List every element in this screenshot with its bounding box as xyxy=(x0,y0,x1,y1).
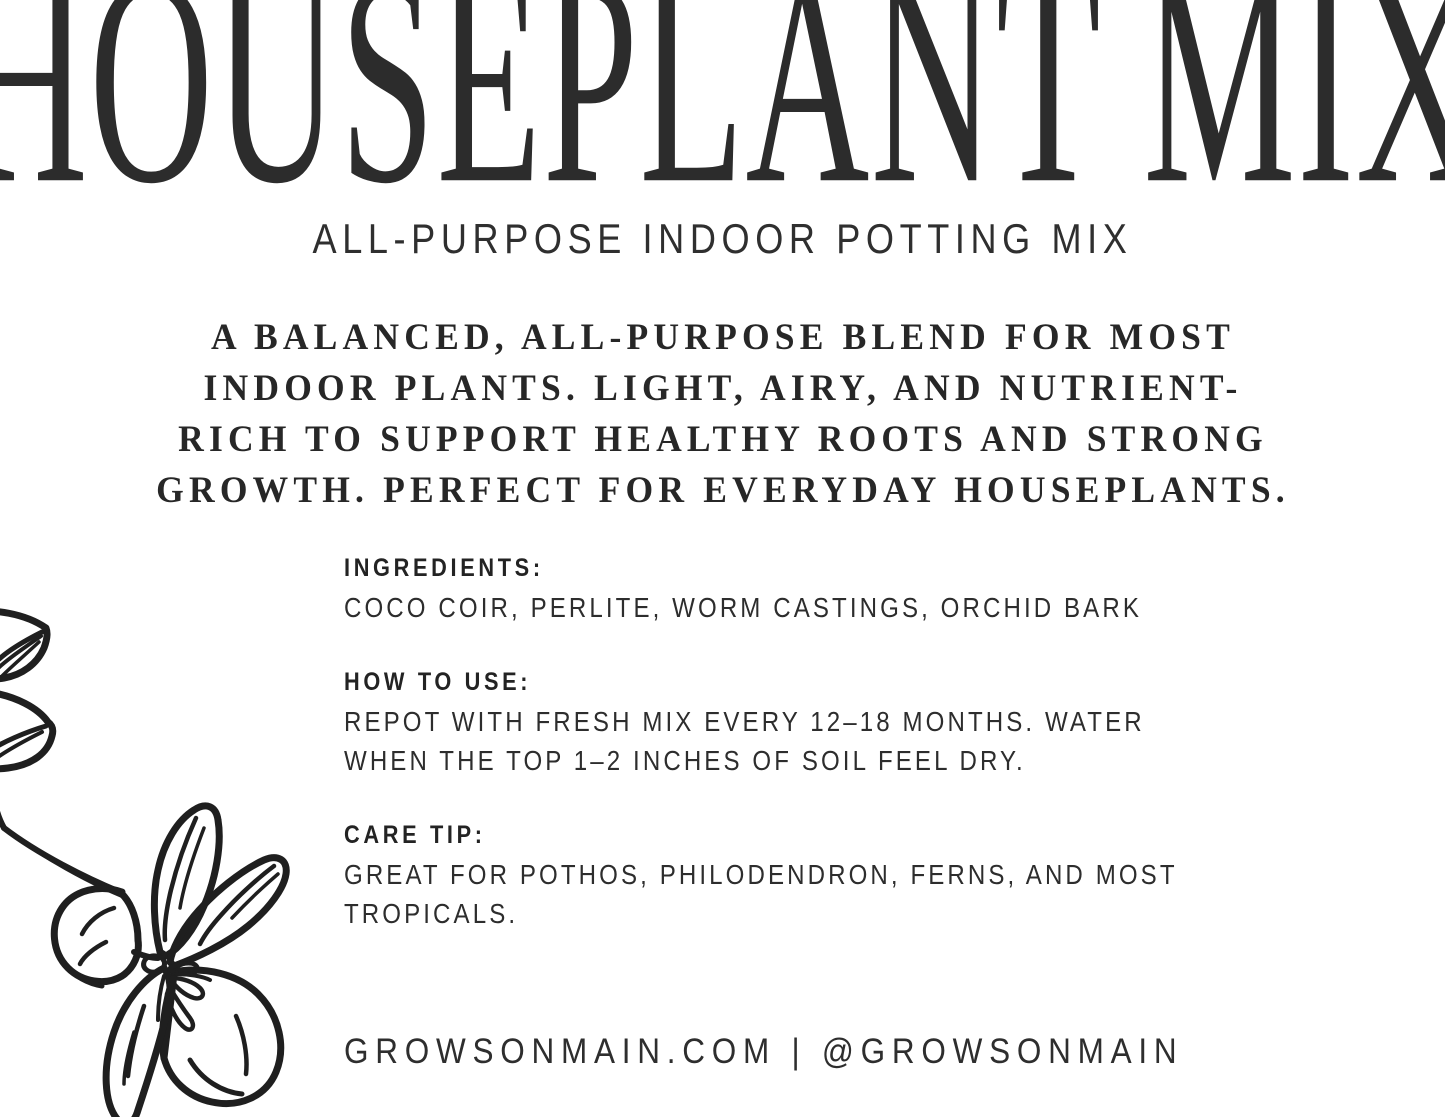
section-label-how-to-use: HOW TO USE: xyxy=(344,666,1223,698)
title-area: HOUSEPLANT MIX xyxy=(0,0,1445,200)
section-ingredients: INGREDIENTS: COCO COIR, PERLITE, WORM CA… xyxy=(344,552,1354,627)
section-care-tip: CARE TIP: GREAT FOR POTHOS, PHILODENDRON… xyxy=(344,819,1354,933)
floral-blossom-icon xyxy=(0,596,338,1117)
footer-contact: GROWSONMAIN.COM | @GROWSONMAIN xyxy=(344,1032,1183,1072)
description-line: INDOOR PLANTS. LIGHT, AIRY, AND NUTRIENT… xyxy=(42,363,1403,414)
body-line: TROPICALS. xyxy=(344,894,1213,933)
description-line: GROWTH. PERFECT FOR EVERYDAY HOUSEPLANTS… xyxy=(42,465,1403,516)
page-title: HOUSEPLANT MIX xyxy=(0,0,1445,200)
section-label-care-tip: CARE TIP: xyxy=(344,819,1223,851)
section-body-how-to-use: REPOT WITH FRESH MIX EVERY 12–18 MONTHS.… xyxy=(344,702,1213,780)
detail-sections: INGREDIENTS: COCO COIR, PERLITE, WORM CA… xyxy=(344,552,1354,933)
product-subtitle: ALL-PURPOSE INDOOR POTTING MIX xyxy=(101,215,1344,263)
product-description: A BALANCED, ALL-PURPOSE BLEND FOR MOST I… xyxy=(42,312,1403,516)
description-line: RICH TO SUPPORT HEALTHY ROOTS AND STRONG xyxy=(42,414,1403,465)
product-label: HOUSEPLANT MIX ALL-PURPOSE INDOOR POTTIN… xyxy=(0,0,1445,1117)
section-body-ingredients: COCO COIR, PERLITE, WORM CASTINGS, ORCHI… xyxy=(344,588,1213,627)
body-line: WHEN THE TOP 1–2 INCHES OF SOIL FEEL DRY… xyxy=(344,741,1213,780)
body-line: GREAT FOR POTHOS, PHILODENDRON, FERNS, A… xyxy=(344,855,1213,894)
section-how-to-use: HOW TO USE: REPOT WITH FRESH MIX EVERY 1… xyxy=(344,666,1354,780)
section-body-care-tip: GREAT FOR POTHOS, PHILODENDRON, FERNS, A… xyxy=(344,855,1213,933)
body-line: REPOT WITH FRESH MIX EVERY 12–18 MONTHS.… xyxy=(344,702,1213,741)
description-line: A BALANCED, ALL-PURPOSE BLEND FOR MOST xyxy=(42,312,1403,363)
section-label-ingredients: INGREDIENTS: xyxy=(344,552,1223,584)
body-line: COCO COIR, PERLITE, WORM CASTINGS, ORCHI… xyxy=(344,588,1213,627)
